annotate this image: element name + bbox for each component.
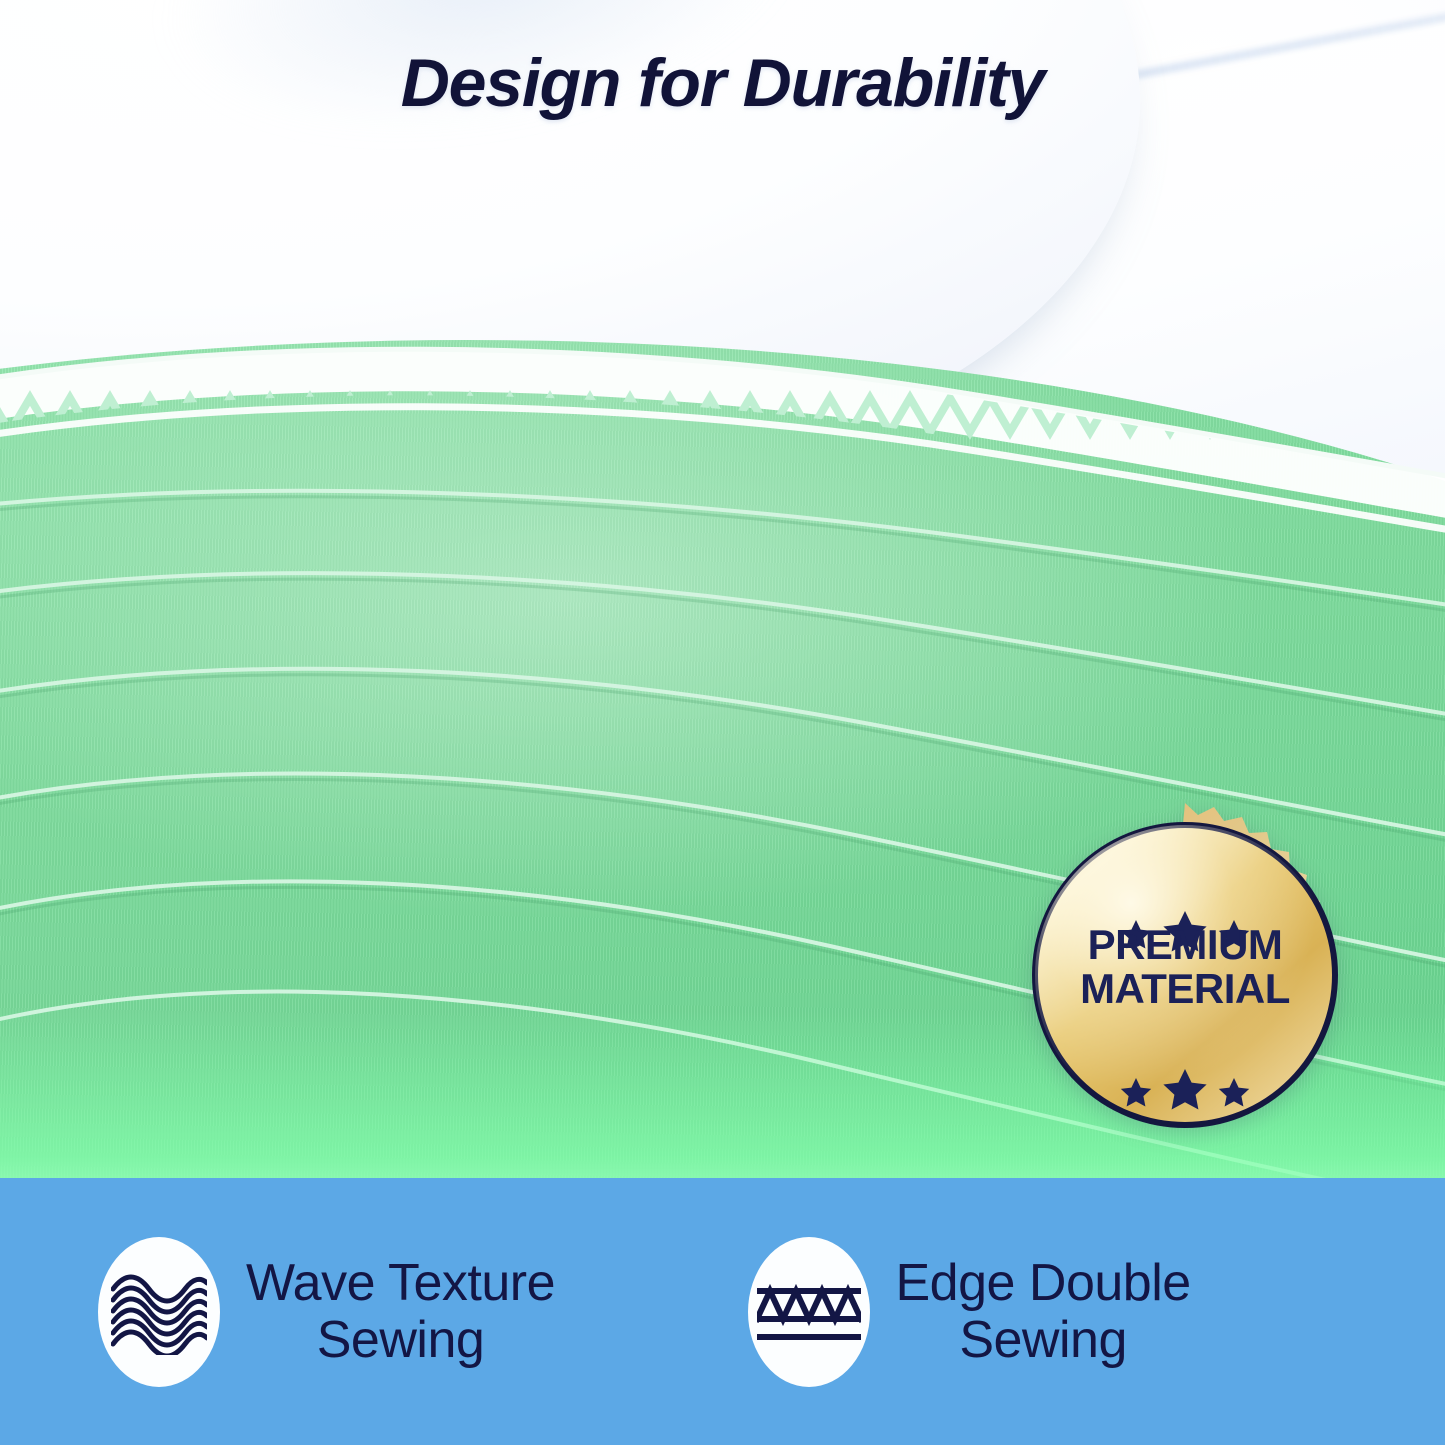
feature-wave-texture-sewing: Wave Texture Sewing [76, 1237, 720, 1387]
feature-band: Wave Texture Sewing E [0, 1178, 1445, 1445]
feature-line-2: Sewing [896, 1312, 1191, 1368]
feature-label: Wave Texture Sewing [246, 1255, 555, 1367]
feature-line-1: Wave Texture [246, 1255, 555, 1311]
wave-lines-icon [98, 1237, 220, 1387]
feature-line-2: Sewing [246, 1312, 555, 1368]
premium-material-badge: PREMIUM MATERIAL [1005, 795, 1365, 1155]
product-photo: Design for Durability [0, 0, 1445, 1178]
page-title: Design for Durability [0, 44, 1445, 122]
zigzag-stitch-icon [748, 1237, 870, 1387]
badge-line-2: MATERIAL [1005, 967, 1365, 1011]
feature-label: Edge Double Sewing [896, 1255, 1191, 1367]
badge-label: PREMIUM MATERIAL [1005, 923, 1365, 1010]
feature-edge-double-sewing: Edge Double Sewing [720, 1237, 1370, 1387]
feature-line-1: Edge Double [896, 1255, 1191, 1311]
product-infographic: Design for Durability [0, 0, 1445, 1445]
badge-line-1: PREMIUM [1005, 923, 1365, 967]
